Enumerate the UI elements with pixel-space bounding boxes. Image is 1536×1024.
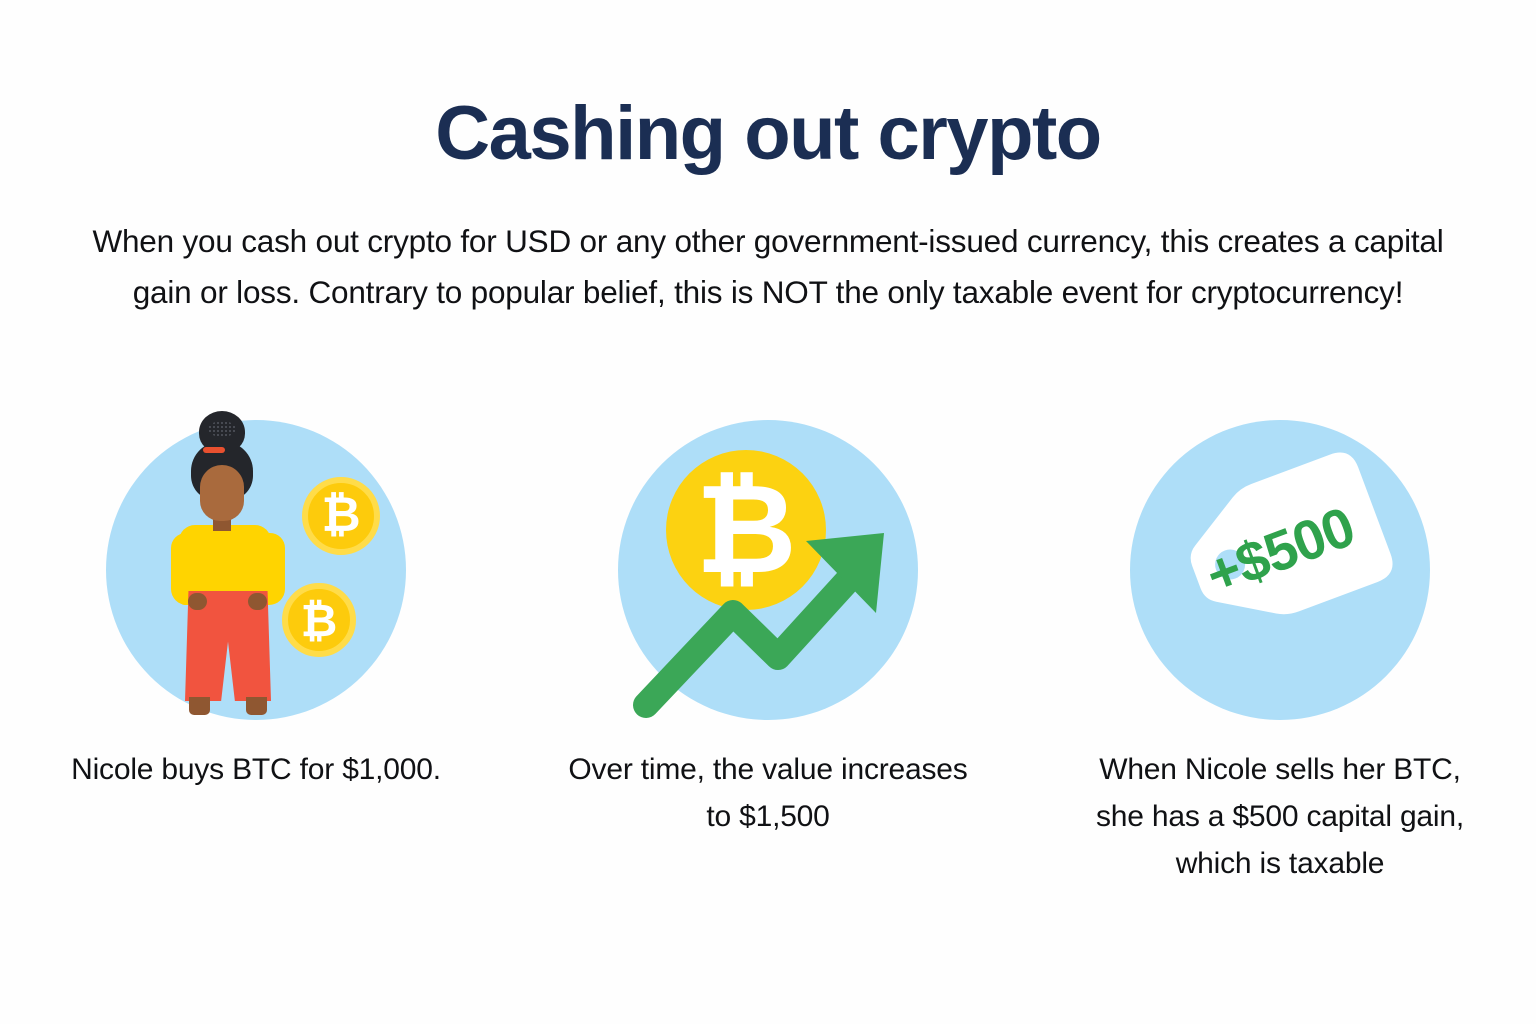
panel-caption: Nicole buys BTC for $1,000. (71, 747, 441, 794)
hair-tie-icon (203, 447, 225, 453)
face-icon (200, 465, 244, 521)
left-hand-icon (188, 593, 207, 610)
panel-caption: When Nicole sells her BTC, she has a $50… (1080, 747, 1480, 887)
page-title: Cashing out crypto (0, 96, 1536, 172)
panel-buy: ₿ ₿ Nicole buys BTC for $1,000. (0, 405, 512, 794)
illustration-bitcoin-coin-with-upward-arrow: ₿ (618, 405, 918, 725)
panel-caption: Over time, the value increases to $1,500 (568, 747, 968, 841)
left-foot-icon (189, 697, 210, 715)
panels-row: ₿ ₿ Nicole buys BTC for $1,000. ₿ Over t… (0, 405, 1536, 887)
bitcoin-coin-icon: ₿ (282, 583, 356, 657)
intro-paragraph: When you cash out crypto for USD or any … (88, 216, 1448, 318)
upward-trend-arrow-icon (628, 505, 918, 725)
bitcoin-coin-icon: ₿ (302, 477, 380, 555)
infographic-canvas: Cashing out crypto When you cash out cry… (0, 0, 1536, 1024)
right-foot-icon (246, 697, 267, 715)
right-hand-icon (248, 593, 267, 610)
woman-figure-icon (158, 405, 298, 725)
panel-value-increase: ₿ Over time, the value increases to $1,5… (512, 405, 1024, 841)
illustration-price-tag-plus-500: +$500 (1130, 405, 1430, 725)
illustration-woman-with-bitcoin-coins: ₿ ₿ (106, 405, 406, 725)
panel-capital-gain: +$500 When Nicole sells her BTC, she has… (1024, 405, 1536, 887)
